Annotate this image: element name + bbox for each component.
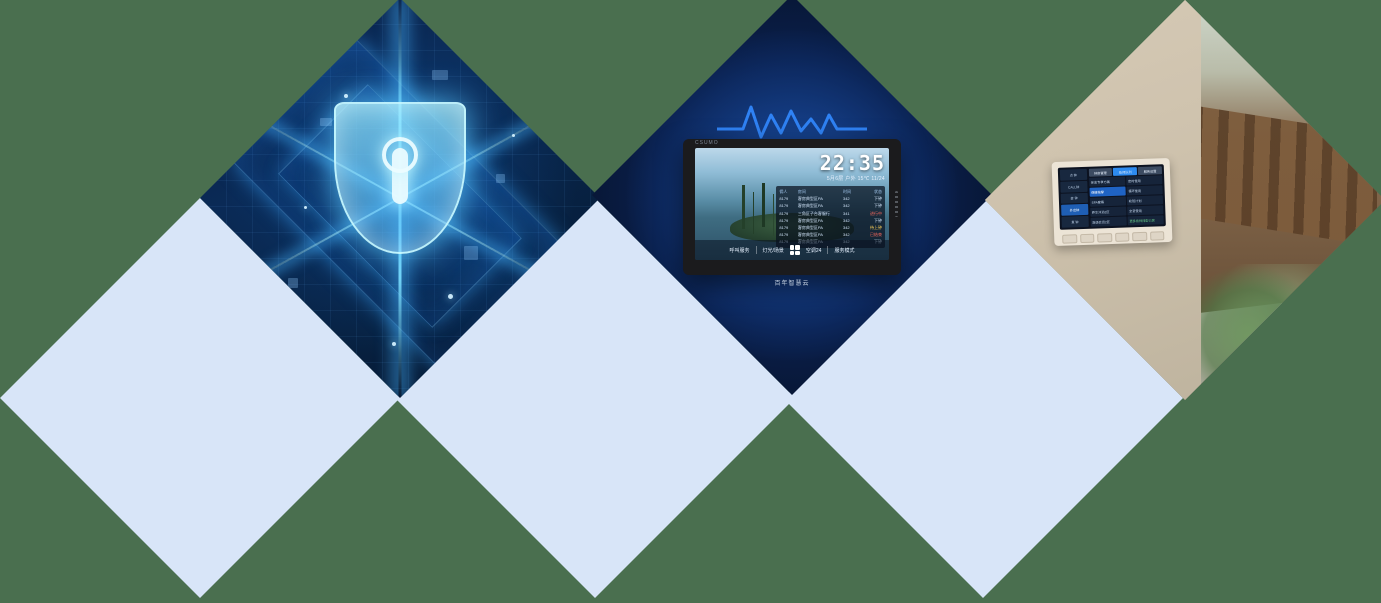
table-row: 8179 客房典型区PA 342 下钟 <box>779 217 882 224</box>
taskbar-item-service-mode[interactable]: 服务模式 <box>834 247 854 254</box>
hard-button-3[interactable] <box>1097 233 1112 243</box>
table-cell: 客房典型区PA <box>798 231 843 238</box>
side-button-3[interactable]: 外出钟 <box>1061 204 1088 216</box>
hard-button-2[interactable] <box>1080 234 1095 244</box>
screen-service-table[interactable]: 佣人 房间 时间 状态 8179 客房典型区PA 342 下钟 8179 <box>776 186 885 248</box>
table-header-row: 佣人 房间 时间 状态 <box>779 188 882 195</box>
table-row: 8179 客房典型区PA 342 下钟 <box>779 202 882 209</box>
taskbar-divider <box>827 246 828 254</box>
circuit-block <box>288 278 298 288</box>
tab-2[interactable]: 服务设置 <box>1138 166 1162 175</box>
device-screen[interactable]: 22:35 5月6层 户外 15℃ 11/24 佣人 房间 时间 状态 8179 <box>695 148 889 260</box>
wall-panel-main-area[interactable]: 钟房管理 技师队列 服务设置 休息专享方案 保健按摩 SPA套餐 养生沐浴2区 … <box>1088 166 1163 227</box>
side-button-4[interactable]: 直 钟 <box>1061 216 1088 228</box>
table-cell: 8179 <box>779 217 797 224</box>
circuit-node <box>344 94 348 98</box>
table-cell: 8179 <box>779 231 797 238</box>
list-right-item-4[interactable]: 更多技师排型公房 <box>1127 215 1164 225</box>
table-cell-status: 下钟 <box>861 195 882 202</box>
wall-panel-side-buttons[interactable]: 点 钟 CALL钟 查 钟 外出钟 直 钟 <box>1060 169 1089 228</box>
hard-button-5[interactable] <box>1132 232 1147 242</box>
circuit-block <box>496 174 505 183</box>
table-cell: 342 <box>843 217 861 224</box>
table-cell: 客房典型区PA <box>798 217 843 224</box>
clock-meta: 5月6层 户外 15℃ 11/24 <box>776 175 885 182</box>
apps-grid-icon[interactable] <box>790 245 800 255</box>
tab-0[interactable]: 钟房管理 <box>1088 168 1112 177</box>
hard-button-6[interactable] <box>1150 231 1165 241</box>
wall-control-panel[interactable]: 点 钟 CALL钟 查 钟 外出钟 直 钟 钟房管理 技师队列 服务设置 <box>1052 158 1173 246</box>
list-left-item-3[interactable]: 养生沐浴2区 <box>1090 207 1127 217</box>
table-header-cell: 佣人 <box>779 188 797 195</box>
table-header-cell: 时间 <box>843 188 861 195</box>
list-right-item-3[interactable]: 全室使用 <box>1127 205 1164 215</box>
circuit-block <box>432 70 448 80</box>
room-terminal-device[interactable]: CSUMO 22:35 5月6层 户外 15℃ 11/24 佣人 房间 时间 <box>683 139 901 275</box>
table-cell: 342 <box>843 231 861 238</box>
table-row: 8179 客房典型区PA 342 待上钟 <box>779 224 882 231</box>
table-cell: 342 <box>843 224 861 231</box>
circuit-node <box>512 134 515 137</box>
taskbar-divider <box>756 246 757 254</box>
circuit-node <box>448 294 453 299</box>
table-cell: 三角区子台客服行 <box>798 210 843 217</box>
side-button-1[interactable]: CALL钟 <box>1060 181 1087 193</box>
list-right-item-1[interactable]: 循环使用 <box>1126 185 1163 195</box>
table-cell: 8179 <box>779 202 797 209</box>
table-row: 8179 三角区子台客服行 341 进行中 <box>779 210 882 217</box>
table-cell: 342 <box>843 195 861 202</box>
infographic-stage: 01 强大的接口 与多家团购网络合作，团购 验证和结算同步，解决了先验证 后结算… <box>0 0 1381 603</box>
wall-panel-list-left[interactable]: 休息专享方案 保健按摩 SPA套餐 养生沐浴2区 高级会员2区 <box>1089 177 1127 227</box>
list-left-item-0[interactable]: 休息专享方案 <box>1089 177 1126 187</box>
list-right-item-2[interactable]: 轮班计划 <box>1127 195 1164 205</box>
hard-button-4[interactable] <box>1115 232 1130 242</box>
table-header-cell: 房间 <box>798 188 843 195</box>
table-cell: 8179 <box>779 210 797 217</box>
table-cell: 342 <box>843 202 861 209</box>
taskbar-item-call-service[interactable]: 呼叫服务 <box>730 247 750 254</box>
list-left-item-1[interactable]: 保健按摩 <box>1089 187 1126 197</box>
table-cell: 341 <box>843 210 861 217</box>
screen-taskbar[interactable]: 呼叫服务 灯光/场景 空调24 服务模式 <box>695 240 889 260</box>
wall-panel-list-right[interactable]: 定时使用 循环使用 轮班计划 全室使用 更多技师排型公房 <box>1126 175 1164 225</box>
taskbar-item-lighting[interactable]: 灯光/场景 <box>763 247 784 254</box>
circuit-block <box>464 246 478 260</box>
table-cell-status: 待上钟 <box>861 224 882 231</box>
table-cell: 客房典型区PA <box>798 195 843 202</box>
list-left-item-2[interactable]: SPA套餐 <box>1089 197 1126 207</box>
table-row: 8179 客房典型区PA 342 下钟 <box>779 195 882 202</box>
hard-button-1[interactable] <box>1062 234 1077 244</box>
table-cell: 8179 <box>779 195 797 202</box>
list-left-item-4[interactable]: 高级会员2区 <box>1090 217 1127 227</box>
table-cell-status: 下钟 <box>861 217 882 224</box>
table-cell-status: 下钟 <box>861 202 882 209</box>
screen-clock-widget: 22:35 5月6层 户外 15℃ 11/24 <box>776 153 885 182</box>
side-button-0[interactable]: 点 钟 <box>1060 169 1087 181</box>
circuit-block <box>320 118 332 126</box>
side-button-2[interactable]: 查 钟 <box>1061 192 1088 204</box>
table-row: 8179 客房典型区PA 342 已结束 <box>779 231 882 238</box>
list-right-item-0[interactable]: 定时使用 <box>1126 175 1163 185</box>
device-corner-label: CSUMO <box>695 140 719 146</box>
device-brand-label: 百年智慧云 <box>683 278 901 287</box>
heartbeat-pulse-icon <box>717 99 867 143</box>
table-cell-status: 已结束 <box>861 231 882 238</box>
potted-plant <box>1201 264 1321 384</box>
table-cell-status: 进行中 <box>861 210 882 217</box>
circuit-node <box>304 206 307 209</box>
device-speaker-grille <box>895 191 898 217</box>
screen-wallpaper-trees <box>742 185 745 229</box>
wall-panel-lists: 休息专享方案 保健按摩 SPA套餐 养生沐浴2区 高级会员2区 定时使用 循环使… <box>1089 175 1164 227</box>
table-cell: 8179 <box>779 224 797 231</box>
circuit-node <box>392 342 396 346</box>
taskbar-item-aircon[interactable]: 空调24 <box>806 247 822 254</box>
table-cell: 客房典型区PA <box>798 202 843 209</box>
tab-1[interactable]: 技师队列 <box>1113 167 1137 176</box>
wall-panel-screen[interactable]: 点 钟 CALL钟 查 钟 外出钟 直 钟 钟房管理 技师队列 服务设置 <box>1058 164 1166 230</box>
clock-time: 22:35 <box>776 153 885 173</box>
table-header-cell: 状态 <box>861 188 882 195</box>
table-cell: 客房典型区PA <box>798 224 843 231</box>
wall-panel-hard-buttons[interactable] <box>1060 231 1166 244</box>
